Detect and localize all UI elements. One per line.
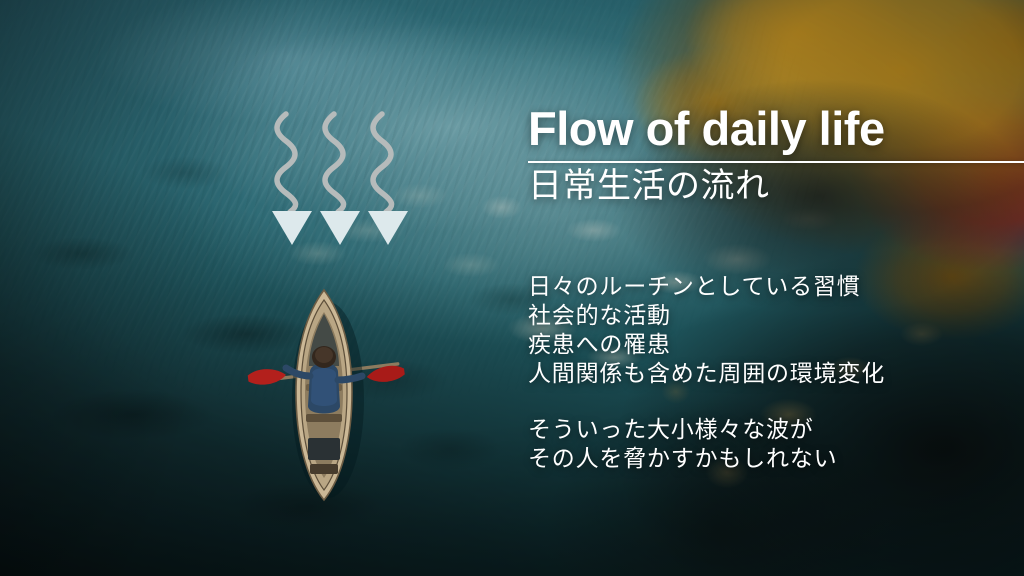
body-line: 人間関係も含めた周囲の環境変化 (528, 359, 998, 388)
canoe-illustration (246, 288, 406, 503)
slide-canvas: Flow of daily life 日常生活の流れ 日々のルーチンとしている習… (0, 0, 1024, 576)
body-line: 社会的な活動 (528, 301, 998, 330)
body-text-block: 日々のルーチンとしている習慣 社会的な活動 疾患への罹患 人間関係も含めた周囲の… (528, 272, 998, 473)
body-paragraph-2: そういった大小様々な波が その人を脅かすかもしれない (528, 415, 998, 473)
page-title: Flow of daily life (528, 104, 1024, 155)
body-paragraph-1: 日々のルーチンとしている習慣 社会的な活動 疾患への罹患 人間関係も含めた周囲の… (528, 272, 998, 388)
body-line: その人を脅かすかもしれない (528, 444, 998, 473)
body-line: そういった大小様々な波が (528, 415, 998, 444)
body-line: 疾患への罹患 (528, 330, 998, 359)
wave-arrows-graphic (272, 110, 416, 250)
title-divider (528, 161, 1024, 163)
arrow-head-3 (368, 211, 408, 245)
page-subtitle: 日常生活の流れ (528, 166, 1024, 206)
squiggle-3 (373, 114, 392, 212)
arrow-head-2 (320, 211, 360, 245)
title-block: Flow of daily life 日常生活の流れ (528, 104, 1024, 206)
arrow-head-1 (272, 211, 312, 245)
squiggle-2 (325, 114, 344, 212)
body-line: 日々のルーチンとしている習慣 (528, 272, 998, 301)
squiggle-1 (277, 114, 296, 212)
paddle-blade-left (247, 367, 287, 387)
